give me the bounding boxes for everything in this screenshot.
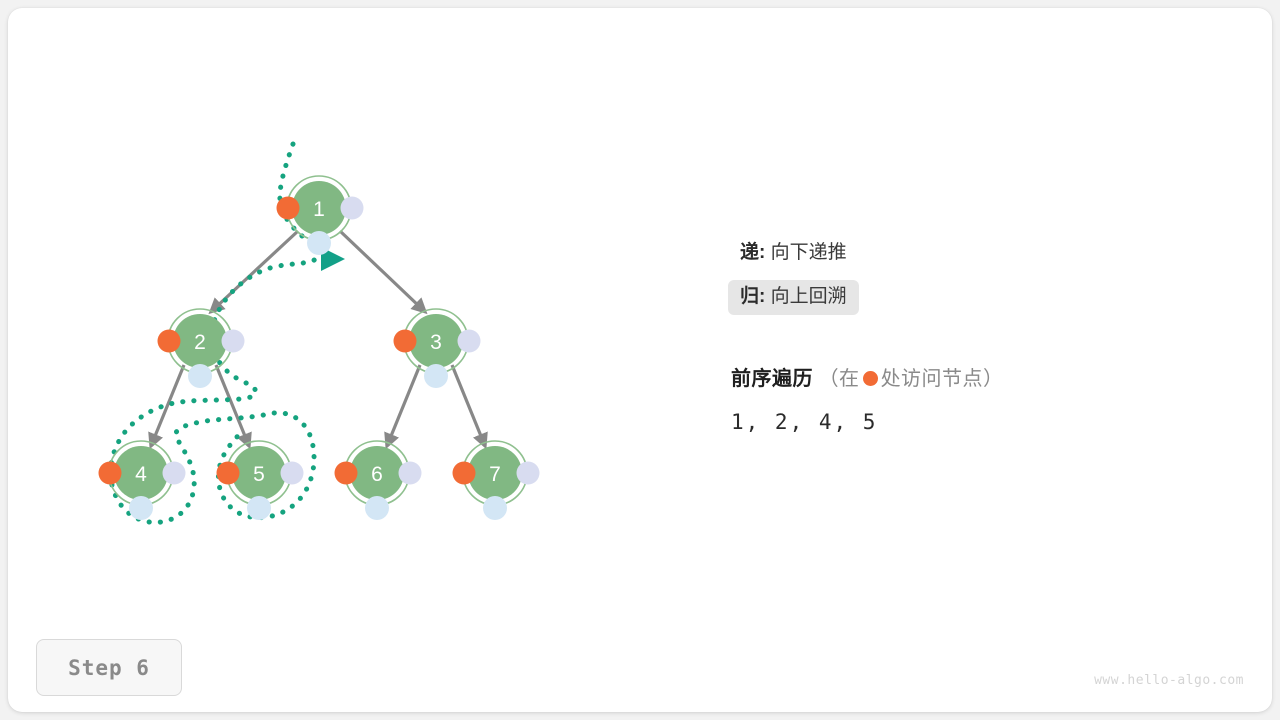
node-bottom-dot bbox=[483, 496, 507, 520]
edge-3-6 bbox=[389, 365, 420, 441]
legend-row-recurse-wrap: 递: 向下递推 bbox=[728, 236, 1156, 271]
edge-2-5 bbox=[216, 365, 247, 441]
step-badge: Step 6 bbox=[36, 639, 182, 696]
tree-node-label: 5 bbox=[253, 463, 265, 486]
tree-node-label: 6 bbox=[371, 463, 383, 486]
legend-row-backtrack: 归: 向上回溯 bbox=[728, 280, 859, 315]
node-visit-dot bbox=[453, 462, 476, 485]
node-right-dot bbox=[163, 462, 186, 485]
node-right-dot bbox=[222, 330, 245, 353]
watermark: www.hello-algo.com bbox=[1094, 673, 1244, 688]
traversal-title-note-before: （在 bbox=[819, 368, 860, 390]
node-visit-dot bbox=[277, 197, 300, 220]
traversal-result-values: 1, 2, 4, 5 bbox=[731, 410, 1191, 434]
legend-row-recurse-key: 递: bbox=[740, 242, 765, 263]
tree-node-6[interactable]: 6 bbox=[335, 441, 422, 520]
node-bottom-dot bbox=[247, 496, 271, 520]
node-bottom-dot bbox=[188, 364, 212, 388]
tree-node-label: 3 bbox=[430, 331, 442, 354]
node-visit-dot bbox=[158, 330, 181, 353]
node-bottom-dot bbox=[365, 496, 389, 520]
binary-tree-diagram: 1 2 3 bbox=[0, 0, 1280, 720]
tree-nodes: 1 2 3 bbox=[99, 176, 540, 520]
legend-row-recurse: 递: 向下递推 bbox=[728, 236, 859, 271]
screenshot-stage: 1 2 3 bbox=[0, 0, 1280, 720]
legend: 递: 向下递推 归: 向上回溯 bbox=[726, 236, 1156, 315]
node-right-dot bbox=[399, 462, 422, 485]
tree-node-7[interactable]: 7 bbox=[453, 441, 540, 520]
tree-node-label: 4 bbox=[135, 463, 147, 486]
tree-node-label: 7 bbox=[489, 463, 501, 486]
legend-row-backtrack-wrap: 归: 向上回溯 bbox=[728, 280, 1156, 315]
tree-node-label: 1 bbox=[313, 198, 325, 221]
node-right-dot bbox=[458, 330, 481, 353]
legend-row-recurse-value: 向下递推 bbox=[771, 242, 847, 263]
node-visit-dot bbox=[394, 330, 417, 353]
node-visit-dot bbox=[217, 462, 240, 485]
node-bottom-dot bbox=[424, 364, 448, 388]
edge-1-2 bbox=[215, 231, 298, 308]
edge-2-4 bbox=[153, 365, 184, 441]
tree-node-3[interactable]: 3 bbox=[394, 309, 481, 388]
legend-row-backtrack-key: 归: bbox=[740, 286, 765, 307]
visit-dot-icon bbox=[863, 371, 878, 386]
node-right-dot bbox=[341, 197, 364, 220]
traversal-title: 前序遍历 （在处访问节点） bbox=[731, 362, 1191, 391]
edge-1-3 bbox=[340, 231, 421, 308]
tree-node-2[interactable]: 2 bbox=[158, 309, 245, 388]
traversal-panel: 前序遍历 （在处访问节点） 1, 2, 4, 5 bbox=[731, 362, 1191, 434]
node-visit-dot bbox=[335, 462, 358, 485]
node-bottom-dot bbox=[129, 496, 153, 520]
step-badge-label: Step 6 bbox=[68, 656, 150, 680]
tree-node-label: 2 bbox=[194, 331, 206, 354]
tree-node-4[interactable]: 4 bbox=[99, 441, 186, 520]
node-bottom-dot bbox=[307, 231, 331, 255]
traversal-title-name: 前序遍历 bbox=[731, 368, 813, 390]
node-right-dot bbox=[517, 462, 540, 485]
tree-node-1[interactable]: 1 bbox=[277, 176, 364, 255]
node-visit-dot bbox=[99, 462, 122, 485]
traversal-title-note-after: 处访问节点） bbox=[881, 368, 1004, 390]
legend-row-backtrack-value: 向上回溯 bbox=[771, 286, 847, 307]
node-right-dot bbox=[281, 462, 304, 485]
edge-3-7 bbox=[452, 365, 483, 441]
